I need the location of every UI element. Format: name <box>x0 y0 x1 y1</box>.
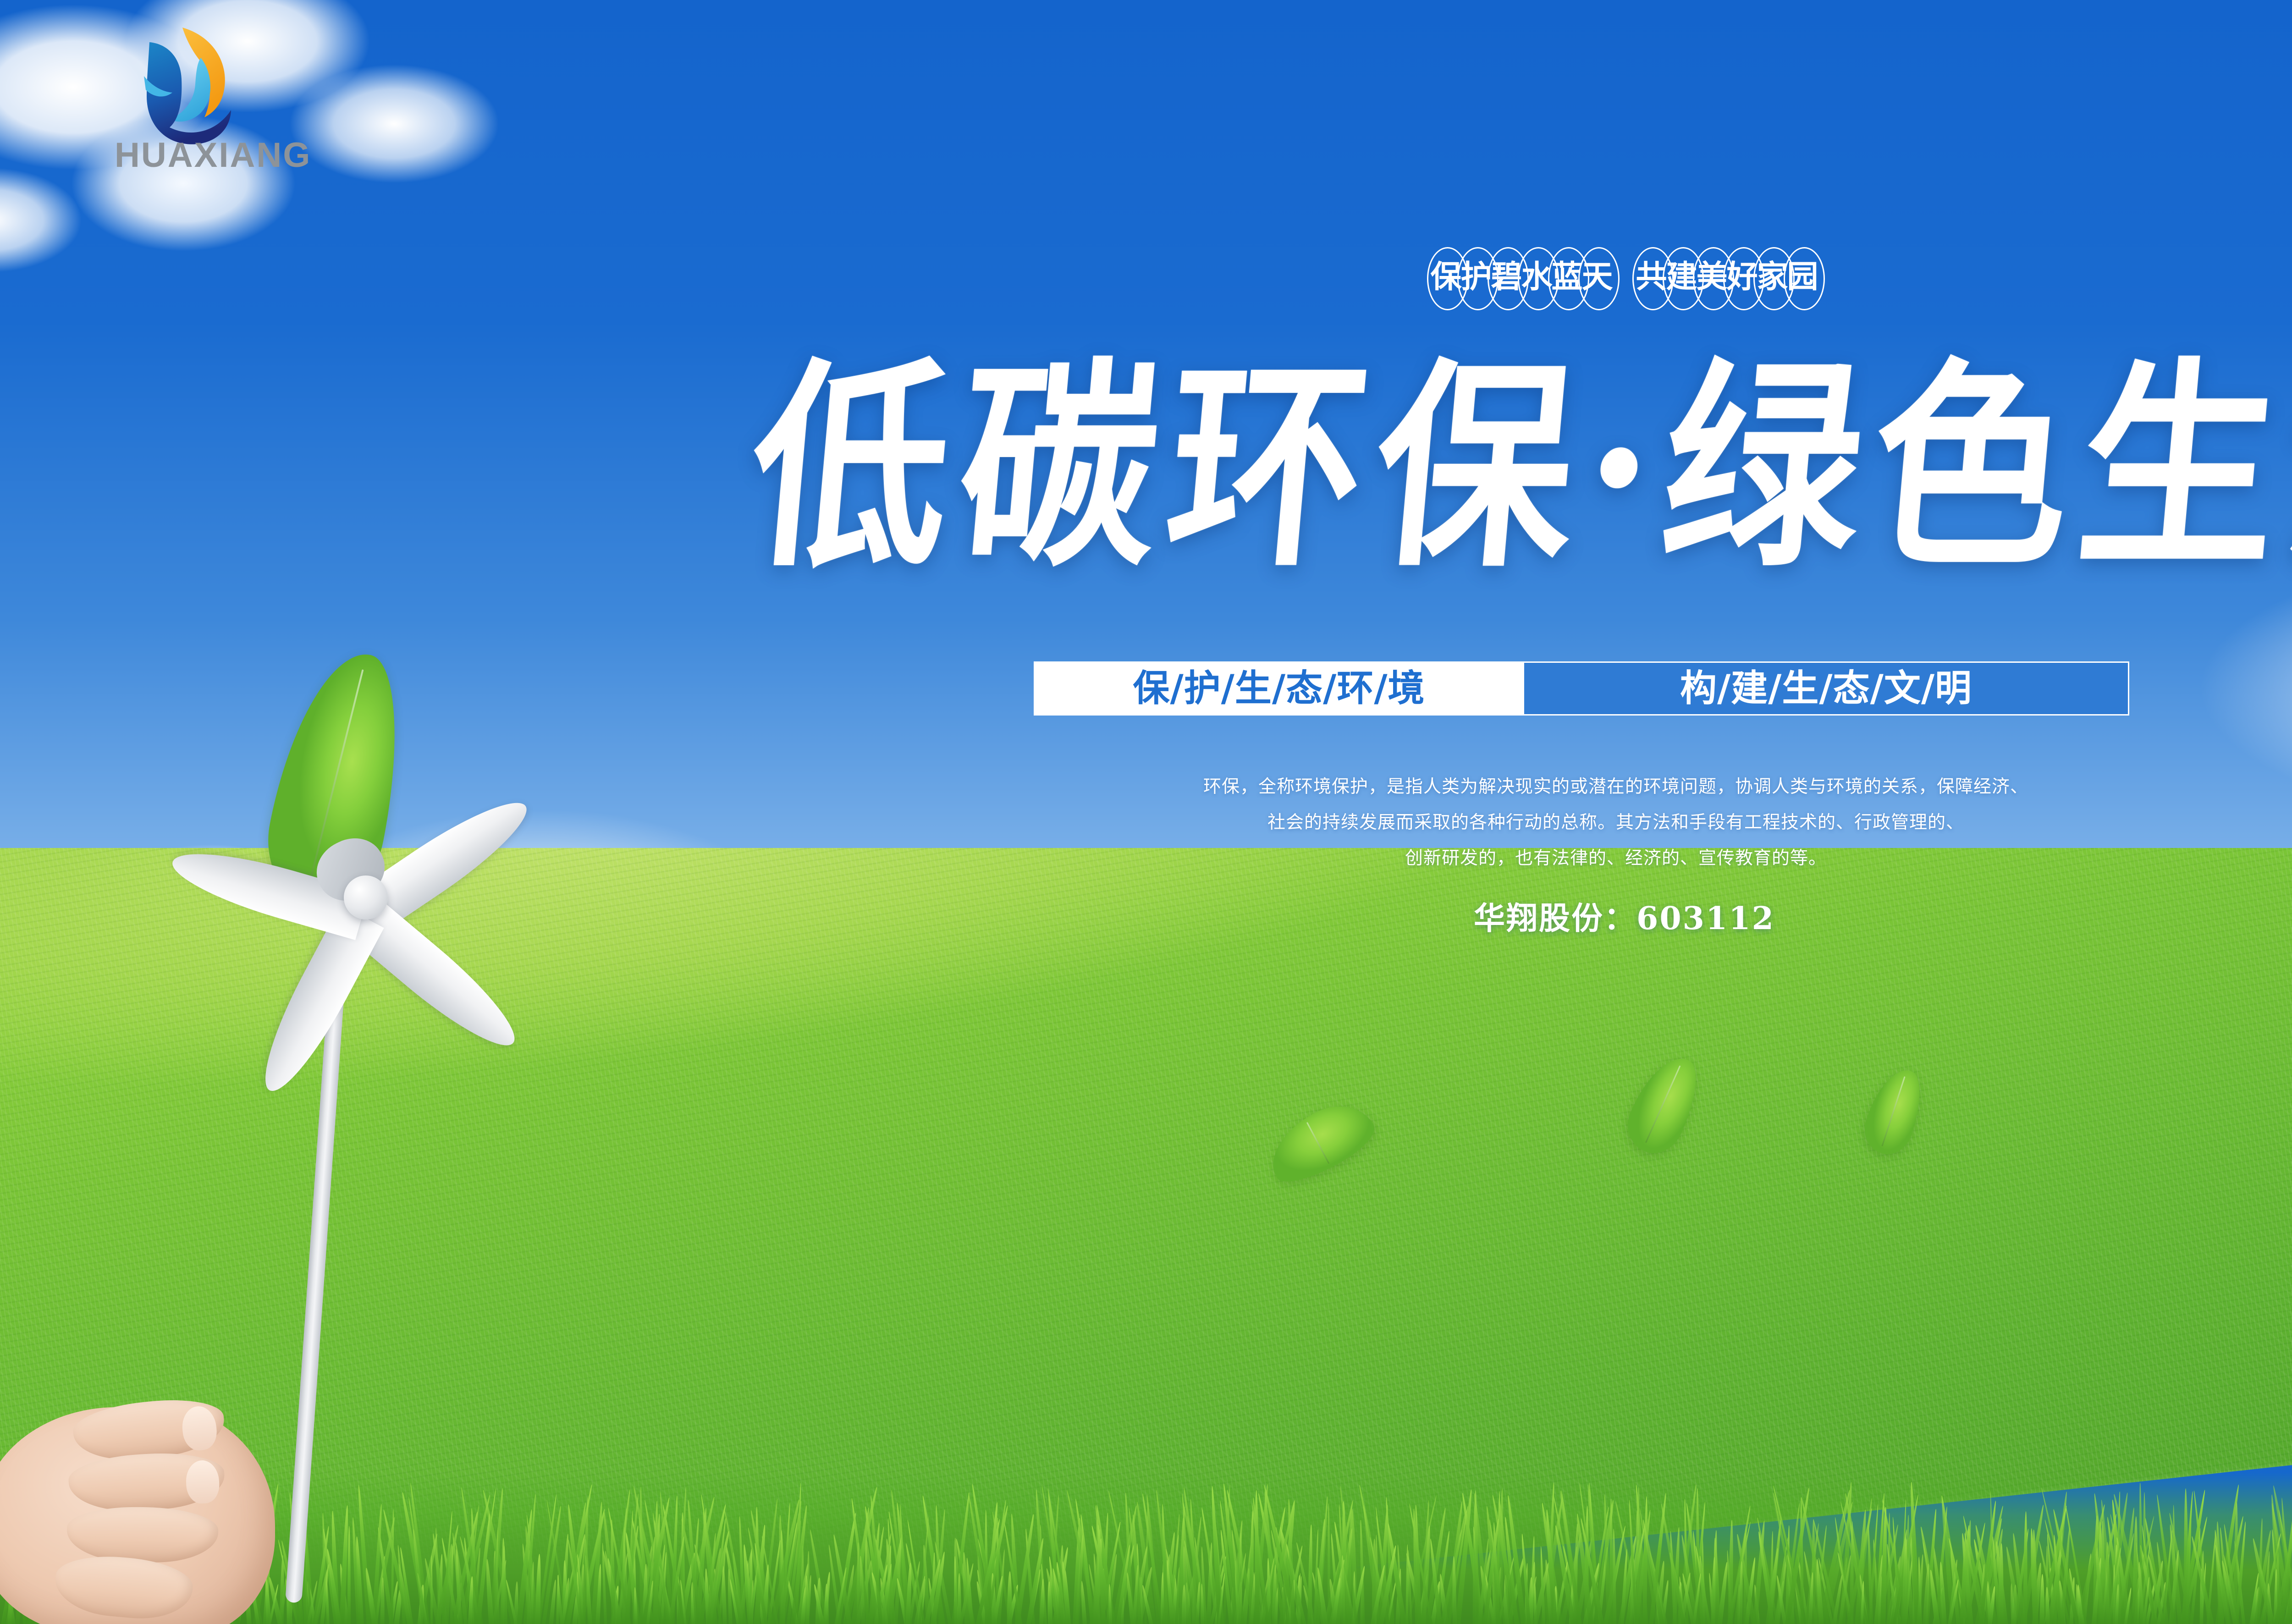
stock-code-line: 华翔股份：603112 <box>0 893 2292 938</box>
main-title: 低碳环保·绿色生活 <box>0 321 2292 614</box>
tagline-g2-cell-3: 好 <box>1727 247 1758 308</box>
grass-blade <box>1007 1571 1012 1624</box>
tagline-g2-cell-4: 家 <box>1758 247 1788 308</box>
tagline-g1-cell-3: 水 <box>1522 247 1552 308</box>
tagline-g2-cell-1: 建 <box>1667 247 1697 308</box>
tagline-g1-char-0: 保 <box>1431 262 1462 293</box>
grass-blade <box>1327 1503 1330 1624</box>
tagline-g1-cell-2: 碧 <box>1492 247 1522 308</box>
tagline-g1-cell-4: 蓝 <box>1552 247 1582 308</box>
tagline-g2-cell-0: 共 <box>1636 247 1667 308</box>
tagline-g2-char-5: 园 <box>1787 262 1818 293</box>
brand-logo[interactable]: HUAXIANG <box>115 9 280 202</box>
tagline-g1-char-2: 碧 <box>1491 262 1522 293</box>
brand-wordmark: HUAXIANG <box>115 135 280 175</box>
tagline-banner: 保护碧水蓝天 共建美好家园 <box>0 243 2292 312</box>
hand-holding-pinwheel <box>0 1366 330 1624</box>
grass-blade <box>721 1566 727 1624</box>
tagline-g1-char-5: 天 <box>1582 262 1613 293</box>
body-line-1: 环保，全称环境保护，是指人类为解决现实的或潜在的环境问题，协调人类与环境的关系，… <box>1080 769 2152 805</box>
tagline-g1-char-4: 蓝 <box>1552 262 1583 293</box>
subtitle-right-panel: 构/建/生/态/文/明 <box>1524 661 2129 716</box>
tagline-g2-char-2: 美 <box>1697 262 1728 293</box>
tagline-g1-cell-1: 护 <box>1461 247 1492 308</box>
body-line-2: 社会的持续发展而采取的各种行动的总称。其方法和手段有工程技术的、行政管理的、 <box>1080 805 2152 841</box>
body-line-3: 创新研发的，也有法律的、经济的、宣传教育的等。 <box>1080 841 2152 876</box>
tagline-g1-char-1: 护 <box>1461 262 1492 293</box>
subtitle-right-text: 构/建/生/态/文/明 <box>1680 670 1972 707</box>
tagline-group-1: 保护碧水蓝天 <box>1431 247 1613 308</box>
huaxiang-flame-logo-icon <box>124 9 261 147</box>
main-title-text: 低碳环保·绿色生活 <box>743 357 2292 578</box>
tagline-g2-cell-2: 美 <box>1697 247 1727 308</box>
subtitle-bar: 保/护/生/态/环/境 构/建/生/态/文/明 <box>1034 661 2129 716</box>
poster-canvas: HUAXIANG 保护碧水蓝天 共建美好家园 低碳环保·绿色生活 保/护/生/态… <box>0 0 2292 1624</box>
tagline-g1-char-3: 水 <box>1521 262 1553 293</box>
subtitle-left-panel: 保/护/生/态/环/境 <box>1034 661 1524 716</box>
tagline-group-2: 共建美好家园 <box>1636 247 1818 308</box>
tagline-g1-cell-0: 保 <box>1431 247 1461 308</box>
tagline-g1-cell-5: 天 <box>1582 247 1613 308</box>
tagline-g2-char-4: 家 <box>1757 262 1788 293</box>
tagline-g2-cell-5: 园 <box>1788 247 1818 308</box>
grass-blade <box>1473 1490 1479 1624</box>
tagline-g2-char-3: 好 <box>1727 262 1758 293</box>
tagline-g2-char-0: 共 <box>1636 262 1667 293</box>
body-paragraph: 环保，全称环境保护，是指人类为解决现实的或潜在的环境问题，协调人类与环境的关系，… <box>1080 769 2152 876</box>
subtitle-left-text: 保/护/生/态/环/境 <box>1133 670 1425 707</box>
tagline-g2-char-1: 建 <box>1666 262 1697 293</box>
